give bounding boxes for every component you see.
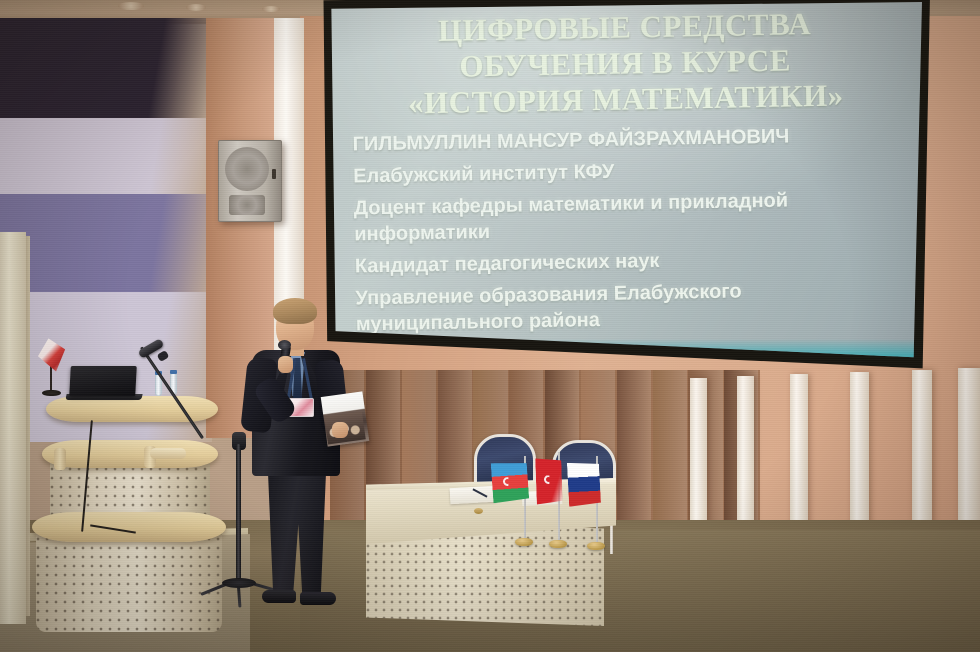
lectern-lower-body: [36, 528, 222, 632]
presenter: [238, 296, 356, 620]
podium-flag-base: [42, 390, 61, 396]
stripe-dark-top: [0, 18, 212, 118]
desk-flag-russia: [567, 461, 601, 507]
pilaster: [958, 368, 980, 534]
stripe-light-upper: [0, 118, 212, 194]
presenter-legs: [264, 472, 330, 596]
presenter-hair: [273, 298, 317, 324]
handheld-microphone-head: [278, 340, 291, 350]
lectern-rail: [150, 448, 186, 459]
ceiling-light-icon: [118, 2, 144, 10]
podium-flag-pole: [50, 366, 52, 392]
stripe-medium: [0, 194, 212, 292]
slide-content: ЦИФРОВЫЕ СРЕДСТВА ОБУЧЕНИЯ В КУРСЕ «ИСТО…: [326, 2, 922, 376]
small-object: [474, 508, 483, 514]
wood-slat: [653, 370, 687, 545]
pilaster: [790, 374, 808, 528]
desk-flag-azerbaijan: [491, 461, 530, 503]
pilaster: [850, 372, 869, 530]
desk-flag-base: [549, 540, 567, 548]
presenter-hand: [332, 422, 348, 438]
ceiling-light-icon: [262, 6, 280, 12]
projection-screen: ЦИФРОВЫЕ СРЕДСТВА ОБУЧЕНИЯ В КУРСЕ «ИСТО…: [326, 2, 922, 376]
bottle-cap: [170, 370, 177, 374]
lectern-upper-top: [42, 440, 218, 468]
wood-slat: [617, 370, 651, 545]
pilaster: [737, 376, 754, 528]
door-frame: [0, 232, 26, 624]
presenter-shoe: [300, 592, 336, 605]
slide-body-line-1: ГИЛЬМУЛЛИН МАНСУР ФАЙЗРАХМАНОВИЧ: [352, 123, 922, 156]
pilaster: [690, 378, 707, 528]
presenter-hand: [278, 356, 293, 373]
pilaster: [912, 370, 932, 532]
slide-body-line-5: Кандидат педагогических наук: [355, 245, 922, 278]
lectern-post: [54, 448, 66, 470]
desk-flag-base: [587, 542, 605, 550]
lectern-lower-top: [32, 512, 226, 542]
laptop: [69, 366, 137, 396]
wall-speaker-icon: [218, 140, 282, 222]
desk-flag-base: [515, 538, 533, 546]
ceiling-light-icon: [186, 4, 206, 11]
conference-photo: ЦИФРОВЫЕ СРЕДСТВА ОБУЧЕНИЯ В КУРСЕ «ИСТО…: [0, 0, 980, 652]
slide-body-line-2: Елабужский институт КФУ: [353, 155, 922, 188]
presenter-shoe: [262, 590, 296, 603]
